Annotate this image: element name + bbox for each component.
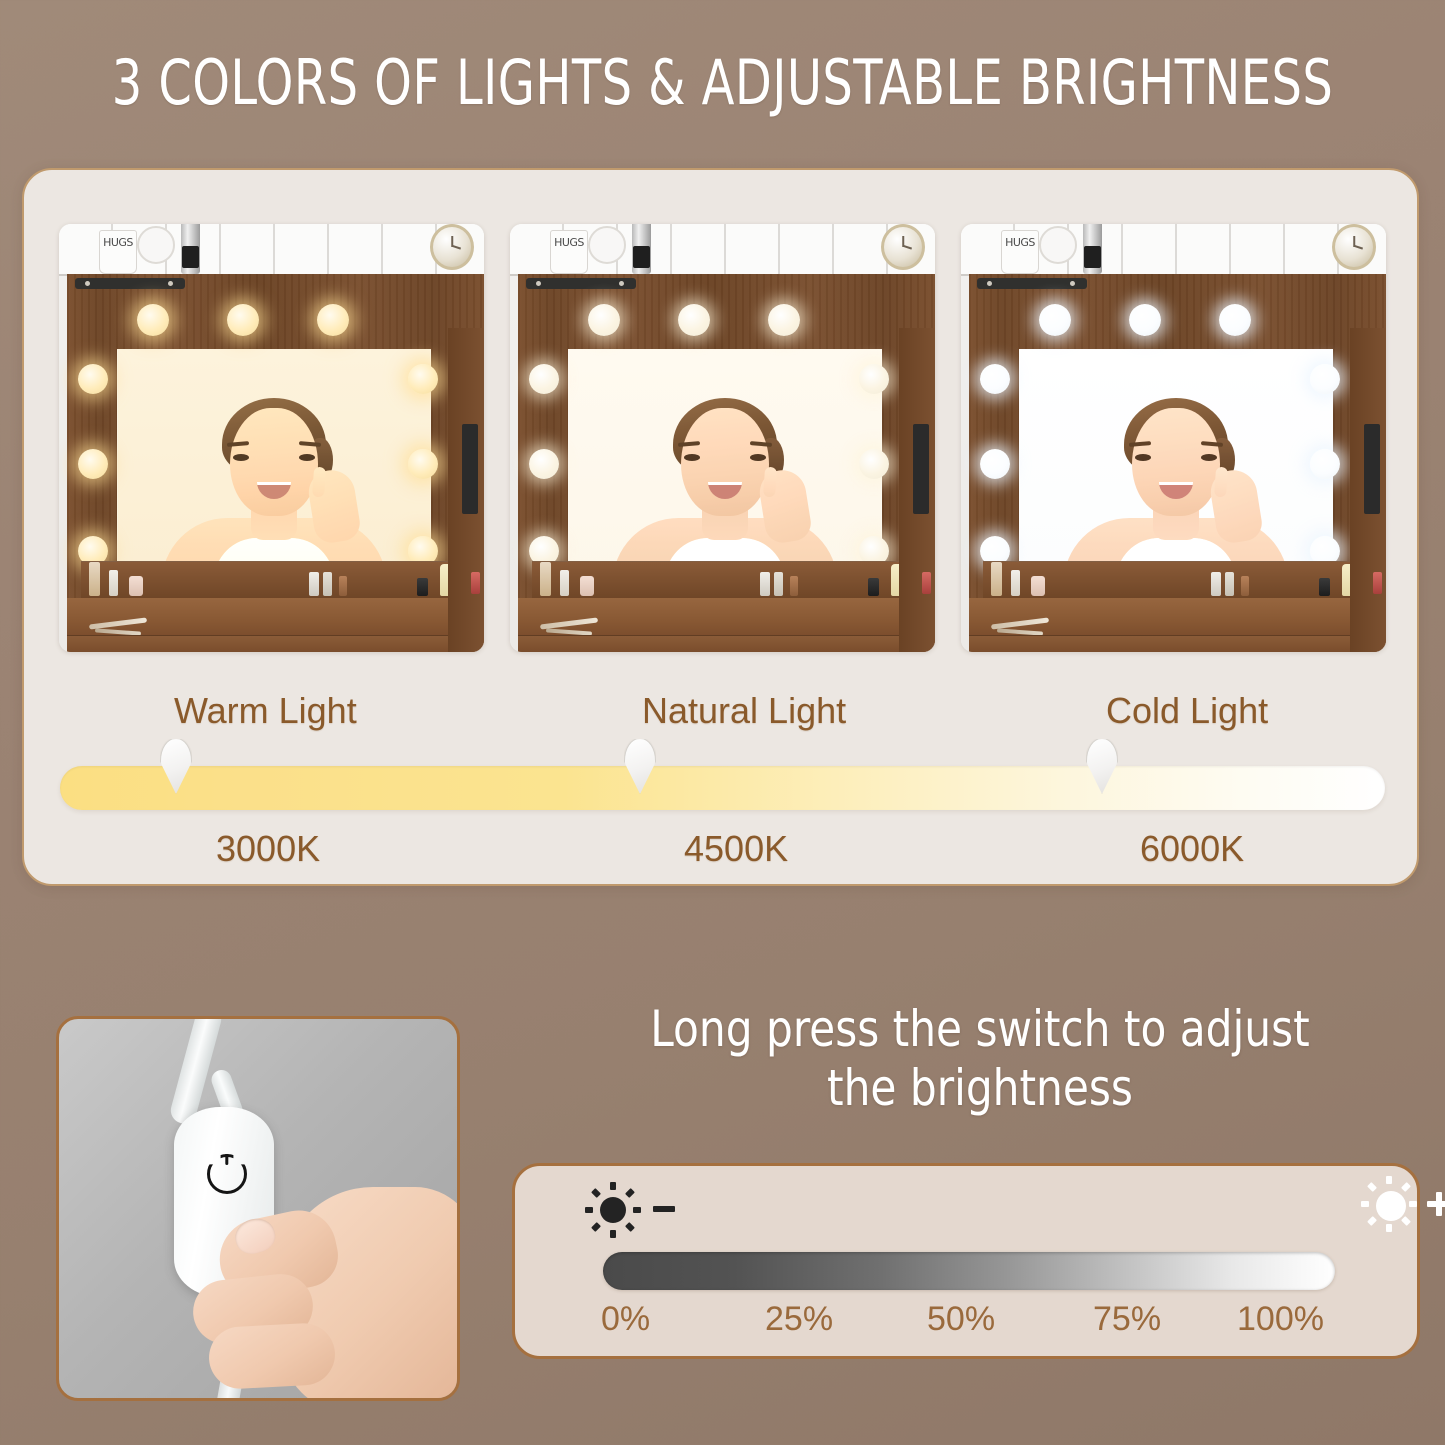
bulb-left-1 <box>980 364 1010 394</box>
brightness-slider-track[interactable] <box>603 1252 1335 1290</box>
drawer-front <box>969 635 1386 652</box>
cabinet-hinge <box>977 278 1087 289</box>
cosmetic-item <box>1225 572 1234 596</box>
mirror-surface <box>568 349 882 581</box>
mug-label: HUGS <box>552 236 586 249</box>
sun-disc <box>1376 1191 1406 1221</box>
bulb-left-2 <box>980 449 1010 479</box>
reflection <box>1020 350 1332 580</box>
round-jar <box>588 226 626 264</box>
side-accessory <box>913 424 929 514</box>
vanity-cabinet <box>969 274 1386 652</box>
side-accessory <box>1364 424 1380 514</box>
cosmetic-item <box>417 578 428 596</box>
spray-bottle <box>181 224 200 274</box>
page-title: 3 COLORS OF LIGHTS & ADJUSTABLE BRIGHTNE… <box>101 46 1344 119</box>
mode-label-cold: Cold Light <box>1106 690 1268 732</box>
face <box>230 408 318 516</box>
mirror-photo-row: HUGS <box>59 224 1386 652</box>
cosmetic-item <box>760 572 770 596</box>
bulb-top-1 <box>588 304 620 336</box>
mirror-surface <box>1019 349 1333 581</box>
brightness-tick-0: 0% <box>601 1300 650 1339</box>
drawer-front <box>67 635 484 652</box>
mug-label: HUGS <box>1003 236 1037 249</box>
mug-label: HUGS <box>101 236 135 249</box>
eye-right <box>299 454 315 461</box>
kelvin-value-warm: 3000K <box>216 828 320 870</box>
cosmetic-item <box>790 576 798 596</box>
brightness-instruction: Long press the switch to adjust the brig… <box>585 1000 1375 1118</box>
vanity-cabinet <box>67 274 484 652</box>
eye-right <box>750 454 766 461</box>
instruction-line-2: the brightness <box>585 1059 1375 1118</box>
cosmetic-item <box>1031 576 1045 596</box>
spray-bottle <box>632 224 651 274</box>
cosmetic-item <box>309 572 319 596</box>
bulb-left-1 <box>529 364 559 394</box>
bulb-right-2 <box>1310 449 1340 479</box>
lipstick <box>471 572 480 594</box>
cosmetic-item <box>774 572 783 596</box>
alarm-clock-icon <box>1332 224 1376 270</box>
mode-label-warm: Warm Light <box>174 690 357 732</box>
mode-label-natural: Natural Light <box>642 690 846 732</box>
cosmetic-item <box>1319 578 1330 596</box>
cabinet-hinge <box>526 278 636 289</box>
infographic-page: 3 COLORS OF LIGHTS & ADJUSTABLE BRIGHTNE… <box>0 0 1445 1445</box>
reflection <box>118 350 430 580</box>
mirror-surface <box>117 349 431 581</box>
drawer-front <box>518 635 935 652</box>
bulb-left-2 <box>78 449 108 479</box>
cosmetic-item <box>560 570 569 596</box>
cosmetic-item <box>339 576 347 596</box>
bulb-right-1 <box>859 364 889 394</box>
cosmetic-item <box>1011 570 1020 596</box>
mirror-photo-cold-light: HUGS <box>961 224 1386 652</box>
bulb-right-1 <box>1310 364 1340 394</box>
eye-right <box>1201 454 1217 461</box>
brightness-panel: 0% 25% 50% 75% 100% <box>512 1163 1420 1359</box>
cosmetic-item <box>580 576 594 596</box>
bulb-right-2 <box>859 449 889 479</box>
reflection <box>569 350 881 580</box>
finger <box>207 1322 336 1391</box>
cosmetic-item <box>323 572 332 596</box>
mode-label-row: Warm Light Natural Light Cold Light <box>24 690 1417 736</box>
round-jar <box>1039 226 1077 264</box>
alarm-clock-icon <box>881 224 925 270</box>
bulb-right-1 <box>408 364 438 394</box>
lipstick <box>1373 572 1382 594</box>
brightness-tick-100: 100% <box>1237 1300 1324 1339</box>
face <box>1132 408 1220 516</box>
eye-left <box>1135 454 1151 461</box>
lipstick <box>922 572 931 594</box>
minus-sign <box>653 1206 675 1212</box>
bulb-top-3 <box>768 304 800 336</box>
bulb-top-2 <box>678 304 710 336</box>
bulb-top-3 <box>1219 304 1251 336</box>
cosmetic-item <box>540 562 551 596</box>
brightness-tick-50: 50% <box>927 1300 995 1339</box>
brightness-tick-75: 75% <box>1093 1300 1161 1339</box>
round-jar <box>137 226 175 264</box>
eye-left <box>684 454 700 461</box>
cosmetic-item <box>868 578 879 596</box>
spray-bottle <box>1083 224 1102 274</box>
face <box>681 408 769 516</box>
kelvin-value-natural: 4500K <box>684 828 788 870</box>
sun-disc <box>600 1197 626 1223</box>
bulb-top-1 <box>1039 304 1071 336</box>
bulb-left-2 <box>529 449 559 479</box>
bulb-right-2 <box>408 449 438 479</box>
alarm-clock-icon <box>430 224 474 270</box>
side-accessory <box>462 424 478 514</box>
cosmetic-item <box>991 562 1002 596</box>
bulb-top-2 <box>227 304 259 336</box>
cabinet-hinge <box>75 278 185 289</box>
eye-left <box>233 454 249 461</box>
bulb-left-1 <box>78 364 108 394</box>
mirror-photo-natural-light: HUGS <box>510 224 935 652</box>
mirror-photo-warm-light: HUGS <box>59 224 484 652</box>
bulb-top-1 <box>137 304 169 336</box>
kelvin-value-cold: 6000K <box>1140 828 1244 870</box>
bulb-top-2 <box>1129 304 1161 336</box>
plus-sign-vertical <box>1436 1192 1442 1216</box>
cosmetic-item <box>1241 576 1249 596</box>
cosmetic-item <box>1211 572 1221 596</box>
color-temperature-slider-track[interactable] <box>60 766 1385 810</box>
instruction-line-1: Long press the switch to adjust <box>585 1000 1375 1059</box>
cosmetic-item <box>129 576 143 596</box>
cosmetic-item <box>89 562 100 596</box>
vanity-cabinet <box>518 274 935 652</box>
cosmetic-item <box>109 570 118 596</box>
brightness-tick-25: 25% <box>765 1300 833 1339</box>
bulb-top-3 <box>317 304 349 336</box>
color-temperature-card: HUGS <box>22 168 1419 886</box>
switch-photo <box>56 1016 460 1401</box>
